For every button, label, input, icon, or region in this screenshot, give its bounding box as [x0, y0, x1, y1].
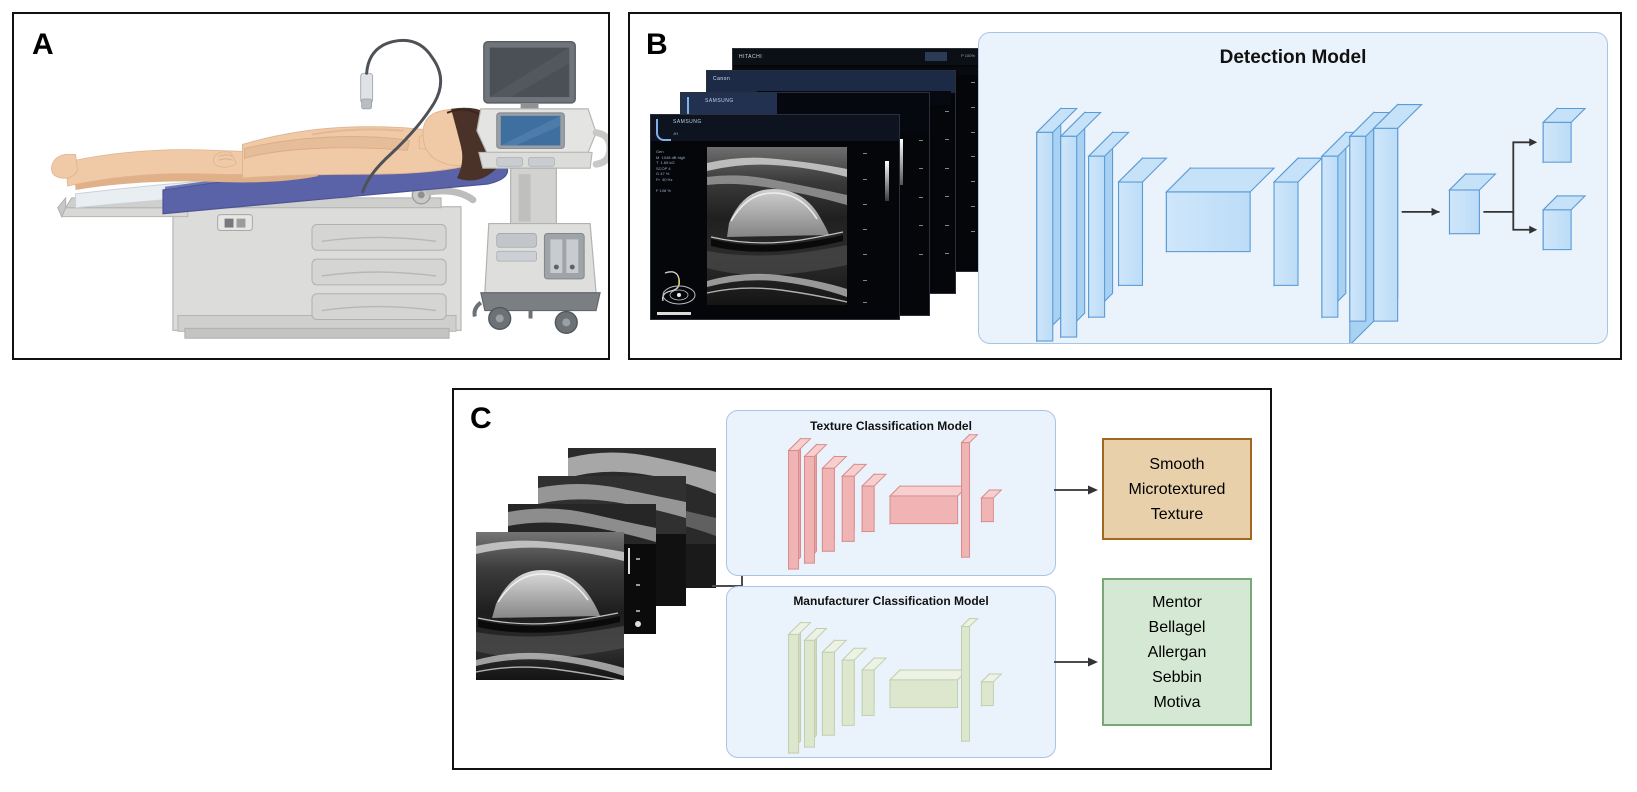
texture-label-2: Texture — [1151, 502, 1203, 527]
detection-model-architecture — [979, 33, 1607, 343]
panel-a: A — [12, 12, 610, 360]
detection-model-panel: Detection Model — [978, 32, 1608, 344]
manufacturer-cnn-architecture — [727, 587, 1055, 757]
manufacturer-label-4: Motiva — [1153, 690, 1200, 715]
ultrasound-image-stack-c — [476, 448, 716, 678]
bmode-image — [707, 147, 847, 305]
manufacturer-output-arrow — [1054, 652, 1104, 672]
texture-output-arrow — [1054, 480, 1104, 500]
depth-scale — [961, 71, 977, 249]
us-parameter-text: Gen M 1048 dB high T 1.65 kG SCOP 4 G 47… — [656, 149, 685, 193]
ultrasound-machine-cart — [474, 42, 608, 334]
panel-a-illustration — [14, 14, 608, 358]
manufacturer-label-3: Sebbin — [1152, 665, 1202, 690]
panel-b: B HITACHI P 100% Canon SAMSUNG CB — [628, 12, 1622, 360]
manufacturer-label-1: Bellagel — [1149, 615, 1206, 640]
panel-c-letter: C — [470, 404, 492, 434]
texture-label-0: Smooth — [1149, 452, 1204, 477]
manufacturer-label-2: Allergan — [1148, 640, 1207, 665]
depth-scale — [853, 147, 869, 305]
manufacturer-output-box: Mentor Bellagel Allergan Sebbin Motiva — [1102, 578, 1252, 726]
texture-model-panel: Texture Classification Model — [726, 410, 1056, 576]
texture-output-box: Smooth Microtextured Texture — [1102, 438, 1252, 540]
texture-label-1: Microtextured — [1129, 477, 1226, 502]
manufacturer-label-0: Mentor — [1152, 590, 1202, 615]
manufacturer-model-panel: Manufacturer Classification Model — [726, 586, 1056, 758]
ultrasound-image-stack: HITACHI P 100% Canon SAMSUNG CB — [650, 48, 980, 318]
panel-c: C — [452, 388, 1272, 770]
us-card-c1-front — [476, 532, 624, 680]
orientation-marker — [657, 267, 701, 307]
texture-cnn-architecture — [727, 411, 1055, 575]
us-card-1-front: SAMSUNG JH Gen M 1048 dB high T 1.65 kG … — [650, 114, 900, 320]
